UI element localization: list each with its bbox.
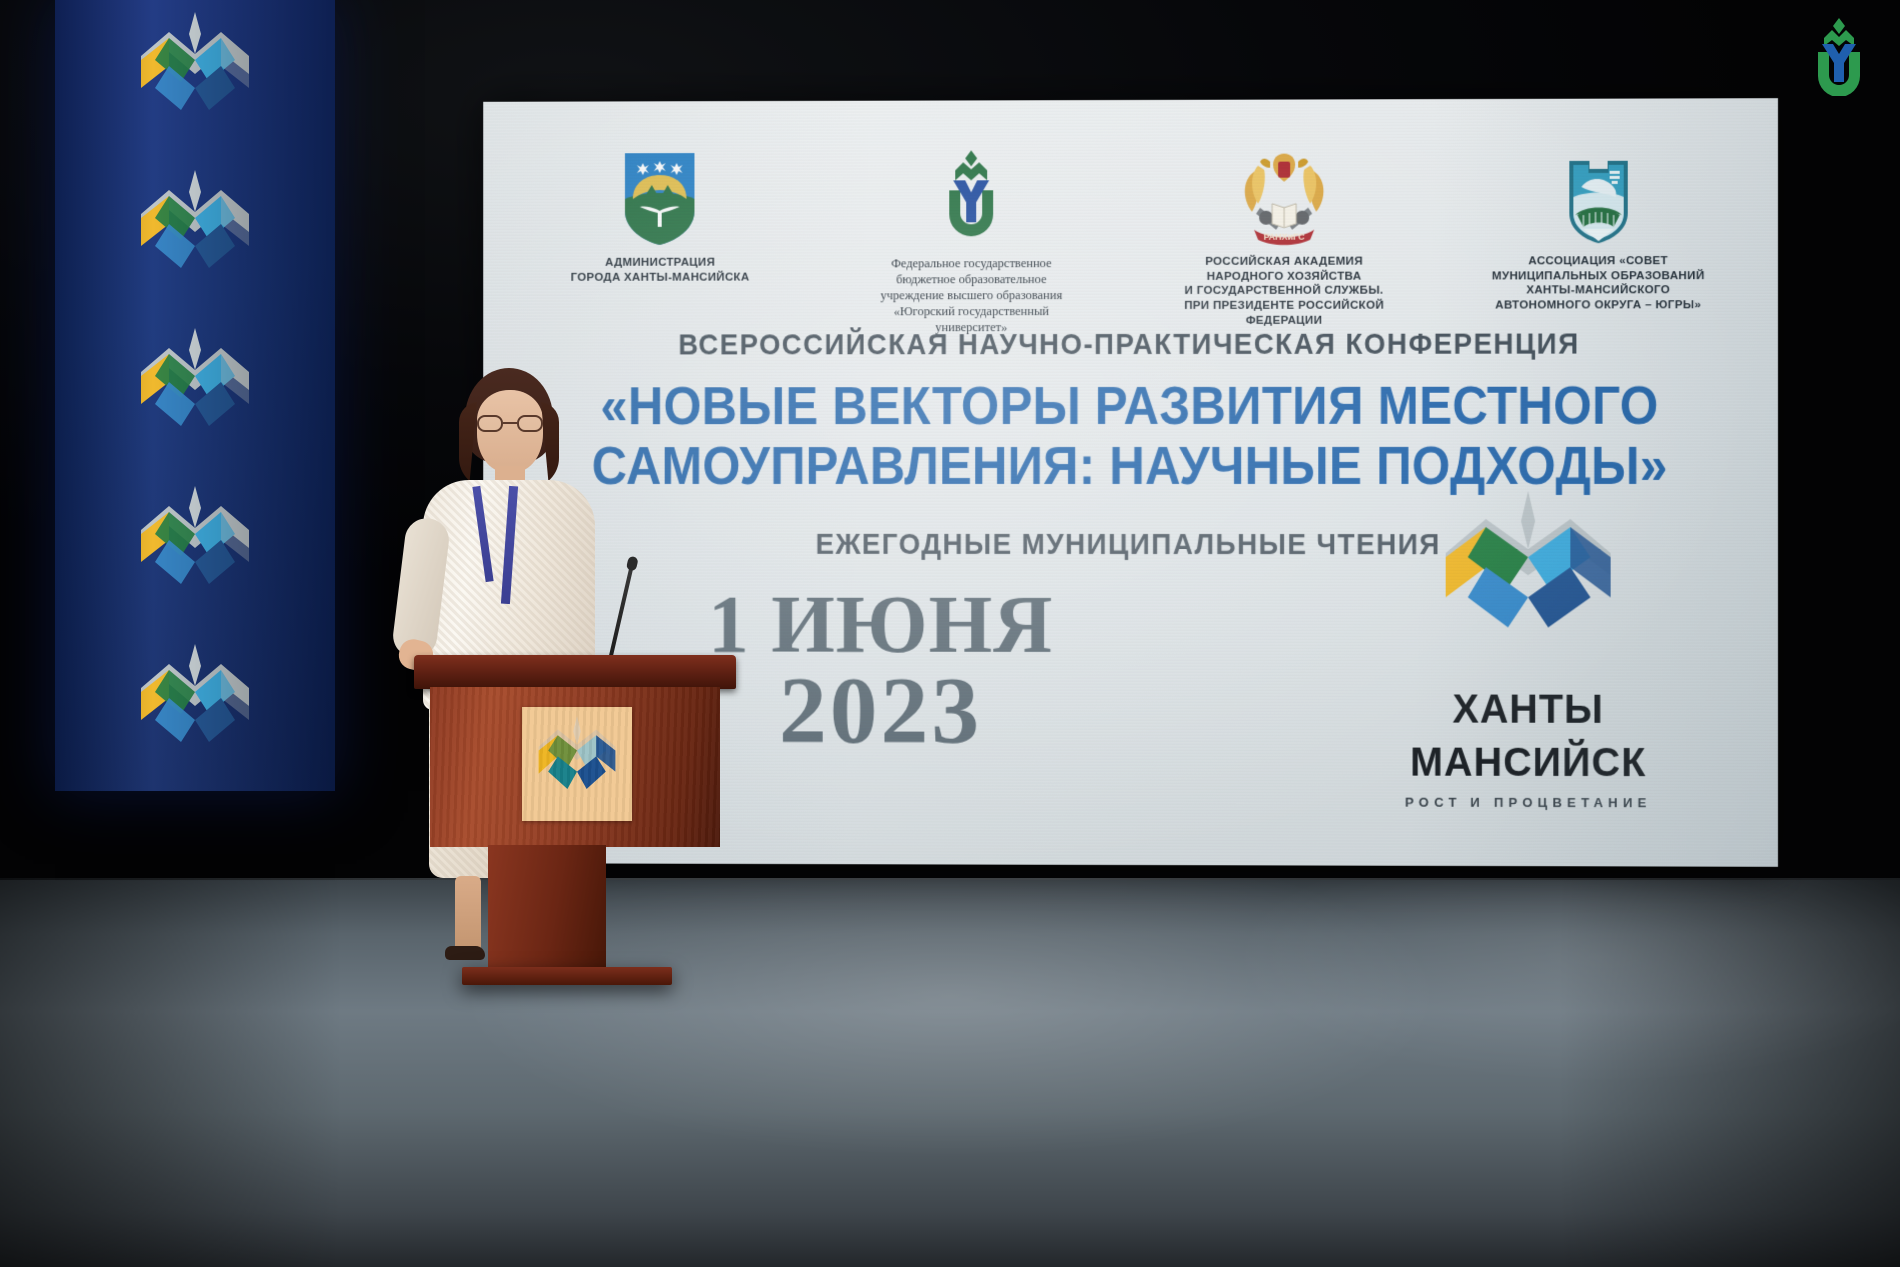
- conference-title-line2: САМОУПРАВЛЕНИЯ: НАУЧНЫЕ ПОДХОДЫ»: [528, 437, 1732, 498]
- logo-yugra-university: Федеральное государственное бюджетное об…: [863, 134, 1079, 335]
- khanty-mansiysk-chevron-icon: [1367, 491, 1689, 677]
- logo-ranepa: РАНХиГС РОССИЙСКАЯ АКАДЕМИЯ НАРОДНОГО ХО…: [1176, 133, 1393, 328]
- khanty-mansiysk-name-line2: МАНСИЙСК: [1374, 741, 1683, 783]
- podium-column: [488, 845, 606, 975]
- logo-caption: Федеральное государственное бюджетное об…: [881, 255, 1063, 335]
- conference-title-line1: «НОВЫЕ ВЕКТОРЫ РАЗВИТИЯ МЕСТНОГО: [528, 377, 1732, 438]
- speaker-podium: [430, 655, 720, 985]
- logo-administration: АДМИНИСТРАЦИЯ ГОРОДА ХАНТЫ-МАНСИЙСКА: [553, 135, 768, 285]
- chevron-emblem-icon: [115, 168, 275, 298]
- partner-logo-row: АДМИНИСТРАЦИЯ ГОРОДА ХАНТЫ-МАНСИЙСКА Фед…: [483, 132, 1778, 335]
- podium-front-panel: [430, 687, 720, 847]
- left-banner: [55, 0, 335, 791]
- logo-caption: АДМИНИСТРАЦИЯ ГОРОДА ХАНТЫ-МАНСИЙСКА: [571, 256, 750, 286]
- logo-caption: АССОЦИАЦИЯ «СОВЕТ МУНИЦИПАЛЬНЫХ ОБРАЗОВА…: [1489, 254, 1707, 313]
- stage-scene: АДМИНИСТРАЦИЯ ГОРОДА ХАНТЫ-МАНСИЙСКА Фед…: [0, 0, 1900, 1267]
- conference-title: «НОВЫЕ ВЕКТОРЫ РАЗВИТИЯ МЕСТНОГО САМОУПР…: [528, 377, 1732, 498]
- chevron-emblem-icon: [115, 642, 275, 772]
- stage-floor: [0, 880, 1900, 1267]
- chevron-emblem-icon: [115, 10, 275, 140]
- yugra-state-university-logo-icon: [1802, 16, 1876, 96]
- logo-association: АССОЦИАЦИЯ «СОВЕТ МУНИЦИПАЛЬНЫХ ОБРАЗОВА…: [1489, 133, 1707, 314]
- podium-emblem-plate: [522, 707, 632, 821]
- khanty-mansiysk-brand: ХАНТЫ МАНСИЙСК РОСТ И ПРОЦВЕТАНИЕ: [1367, 491, 1689, 810]
- association-of-municipalities-emblem-icon: [1563, 133, 1633, 246]
- svg-text:РАНХиГС: РАНХиГС: [1263, 232, 1305, 242]
- podium-base: [462, 967, 672, 985]
- khanty-mansiysk-name-line1: ХАНТЫ: [1374, 688, 1683, 730]
- yugra-state-university-logo-icon: [935, 134, 1007, 246]
- ranepa-emblem-icon: РАНХиГС: [1236, 133, 1332, 245]
- podium-top: [414, 655, 736, 689]
- logo-caption: РОССИЙСКАЯ АКАДЕМИЯ НАРОДНОГО ХОЗЯЙСТВА …: [1176, 255, 1393, 329]
- chevron-emblem-icon: [115, 484, 275, 614]
- conference-kicker: ВСЕРОССИЙСКАЯ НАУЧНО-ПРАКТИЧЕСКАЯ КОНФЕР…: [535, 327, 1726, 362]
- chevron-emblem-icon: [115, 326, 275, 456]
- speaker-glasses-icon: [477, 415, 543, 432]
- khanty-mansiysk-tagline: РОСТ И ПРОЦВЕТАНИЕ: [1367, 795, 1689, 811]
- administration-coat-of-arms-icon: [621, 135, 698, 247]
